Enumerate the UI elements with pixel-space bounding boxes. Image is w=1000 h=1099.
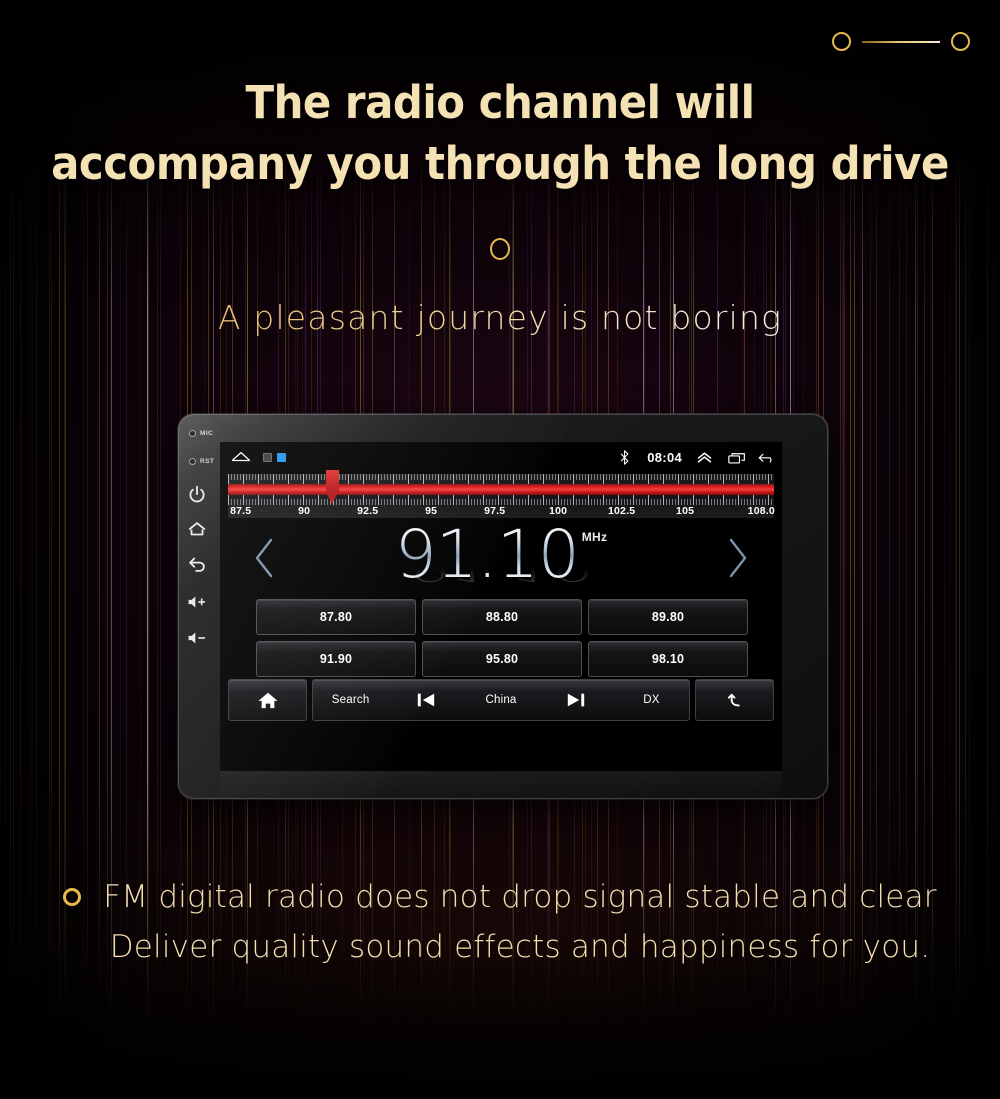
frequency-unit: MHz (582, 530, 608, 544)
circle-outline-icon (832, 32, 851, 51)
footer-line-1: FM digital radio does not drop signal st… (103, 872, 936, 922)
region-button[interactable]: China (463, 694, 538, 706)
footer-copy: FM digital radio does not drop signal st… (0, 872, 1000, 972)
app-notification-icon[interactable] (277, 453, 286, 462)
home-icon[interactable] (186, 518, 208, 540)
preset-button[interactable]: 88.80 (422, 599, 582, 635)
frequency-scale[interactable]: 87.59092.59597.5100102.5105108.0 (228, 474, 774, 518)
bluetooth-icon (619, 450, 630, 465)
preset-button[interactable]: 95.80 (422, 641, 582, 677)
footer-line-2: Deliver quality sound effects and happin… (110, 922, 931, 972)
home-outline-icon[interactable] (230, 450, 252, 464)
dx-button[interactable]: DX (614, 694, 689, 706)
tuning-marker[interactable] (326, 470, 339, 504)
chevron-left-icon[interactable] (250, 536, 280, 580)
volume-down-icon[interactable] (186, 627, 208, 649)
screen-lower-shadow (220, 771, 782, 799)
back-arrow-icon[interactable] (758, 452, 776, 464)
power-icon[interactable] (186, 484, 208, 506)
scale-label: 90 (298, 505, 310, 517)
volume-up-icon[interactable] (186, 591, 208, 613)
radio-toolbar: Search China (228, 679, 774, 721)
circle-outline-icon (63, 888, 81, 906)
preset-row: 87.8088.8089.80 (256, 599, 748, 635)
headline-line-1: The radio channel will (245, 76, 754, 129)
skip-next-icon (565, 690, 587, 710)
status-clock: 08:04 (647, 450, 682, 465)
scale-ticks-top (228, 474, 774, 484)
mic-indicator (189, 430, 196, 437)
back-icon[interactable] (186, 553, 208, 575)
circle-outline-icon (951, 32, 970, 51)
scale-label: 92.5 (357, 505, 378, 517)
headline-line-2: accompany you through the long drive (35, 133, 965, 194)
scale-label: 108.0 (748, 505, 775, 517)
undo-arrow-icon (726, 692, 743, 709)
preset-row: 91.9095.8098.10 (256, 641, 748, 677)
page-subtitle: A pleasant journey is not boring (0, 298, 1000, 337)
footer-line-2-row: Deliver quality sound effects and happin… (0, 922, 1000, 972)
preset-button[interactable]: 87.80 (256, 599, 416, 635)
toolbar-home-button[interactable] (228, 679, 307, 721)
scale-label: 102.5 (608, 505, 635, 517)
toolbar-back-button[interactable] (695, 679, 774, 721)
image-notification-icon[interactable] (263, 453, 272, 462)
mic-label: MIC (200, 430, 213, 437)
scale-label: 105 (676, 505, 694, 517)
car-stereo-device: MIC RST (178, 414, 828, 799)
chevron-right-icon[interactable] (722, 536, 752, 580)
scale-ticks-bottom (228, 495, 774, 505)
top-ornament (832, 32, 970, 51)
reset-indicator[interactable] (189, 458, 196, 465)
preset-grid: 87.8088.8089.8091.9095.8098.10 (256, 599, 748, 683)
skip-next-button[interactable] (539, 690, 614, 710)
toolbar-center-group: Search China (312, 679, 690, 721)
page-headline: The radio channel will accompany you thr… (35, 72, 965, 194)
frequency-value: 91.10 (395, 520, 579, 590)
preset-button[interactable]: 98.10 (588, 641, 748, 677)
scale-band (228, 484, 774, 495)
footer-line-1-row: FM digital radio does not drop signal st… (0, 872, 1000, 922)
search-button[interactable]: Search (313, 694, 388, 706)
chevron-up-icon[interactable] (696, 451, 713, 464)
preset-button[interactable]: 89.80 (588, 599, 748, 635)
circle-outline-icon (490, 238, 510, 260)
divider-line (862, 41, 940, 43)
android-status-bar: 08:04 (220, 442, 782, 472)
skip-previous-button[interactable] (388, 690, 463, 710)
device-screen: 08:04 (220, 442, 782, 771)
recents-icon[interactable] (728, 452, 746, 464)
scale-label: 87.5 (230, 505, 251, 517)
skip-previous-icon (415, 690, 437, 710)
frequency-value-group: 91.10 MHz (395, 520, 608, 590)
preset-button[interactable]: 91.90 (256, 641, 416, 677)
frequency-display: 91.10 MHz 91.10 (228, 522, 774, 594)
device-side-bezel: MIC RST (178, 414, 220, 799)
reset-label: RST (200, 458, 214, 465)
home-filled-icon (257, 690, 279, 710)
